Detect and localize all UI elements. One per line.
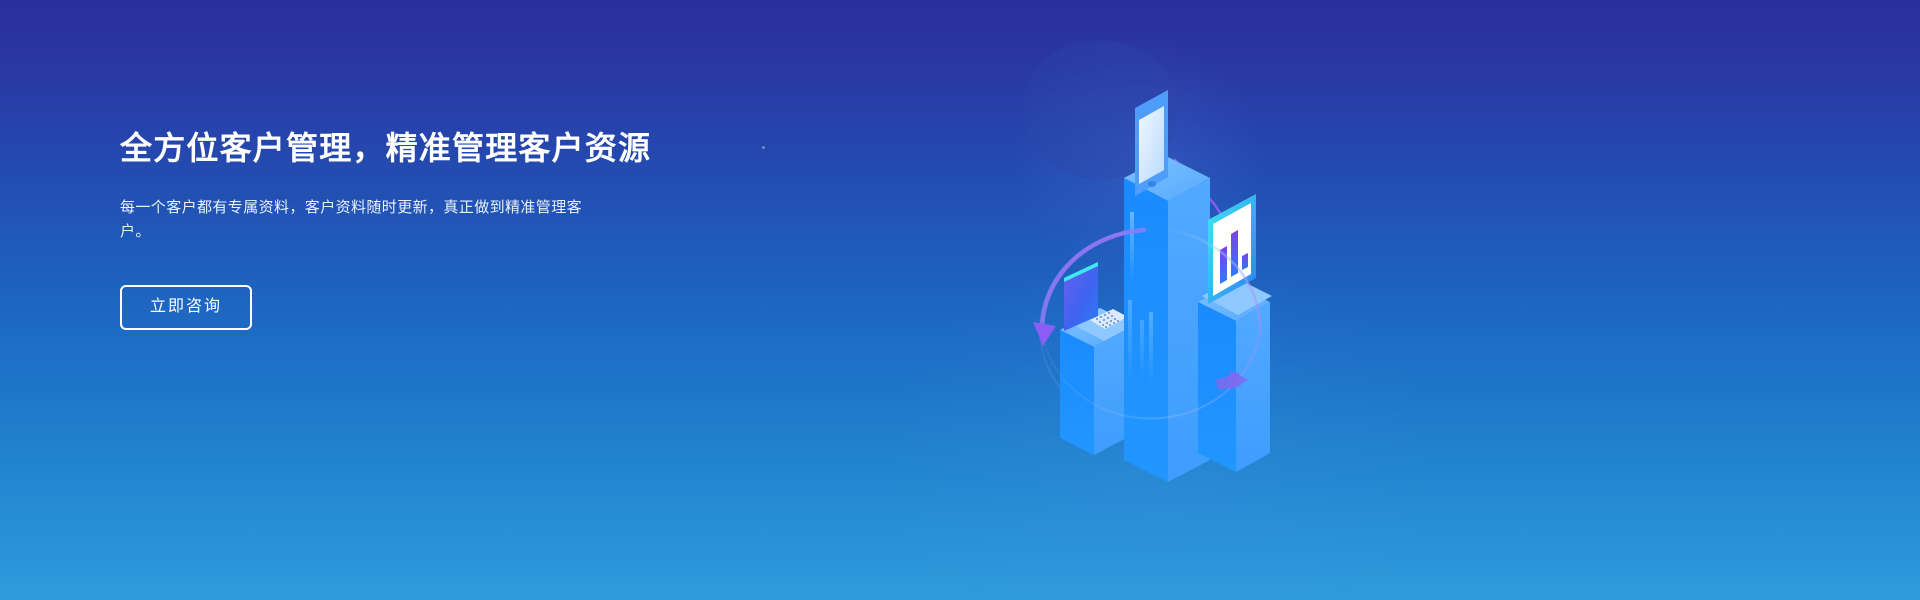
bar-center-streak-1 (1130, 212, 1134, 282)
hero-illustration (930, 30, 1390, 570)
bar-center-streak-4 (1149, 312, 1153, 384)
page-title: 全方位客户管理，精准管理客户资源 (120, 128, 680, 170)
bar-left-side (1094, 330, 1126, 455)
chart-monitor-icon (1202, 194, 1272, 315)
bar-center-tall (1124, 156, 1210, 482)
hero-banner: 全方位客户管理，精准管理客户资源 每一个客户都有专属资料，客户资料随时更新，真正… (0, 0, 1920, 600)
consult-now-button[interactable]: 立即咨询 (120, 285, 252, 330)
orbit-arrow-left (1033, 322, 1056, 346)
bar-right-side (1236, 302, 1270, 472)
decorative-speck (762, 146, 765, 149)
hero-copy-block: 全方位客户管理，精准管理客户资源 每一个客户都有专属资料，客户资料随时更新，真正… (120, 128, 680, 330)
hero-subtitle: 每一个客户都有专属资料，客户资料随时更新，真正做到精准管理客户。 (120, 196, 598, 246)
monitor-chart-bar-3 (1242, 253, 1248, 270)
bar-center-streak-3 (1140, 320, 1144, 380)
monitor-chart-bar-2 (1231, 230, 1238, 277)
bar-center-streak-2 (1128, 300, 1132, 382)
tablet-home-button (1148, 181, 1156, 187)
